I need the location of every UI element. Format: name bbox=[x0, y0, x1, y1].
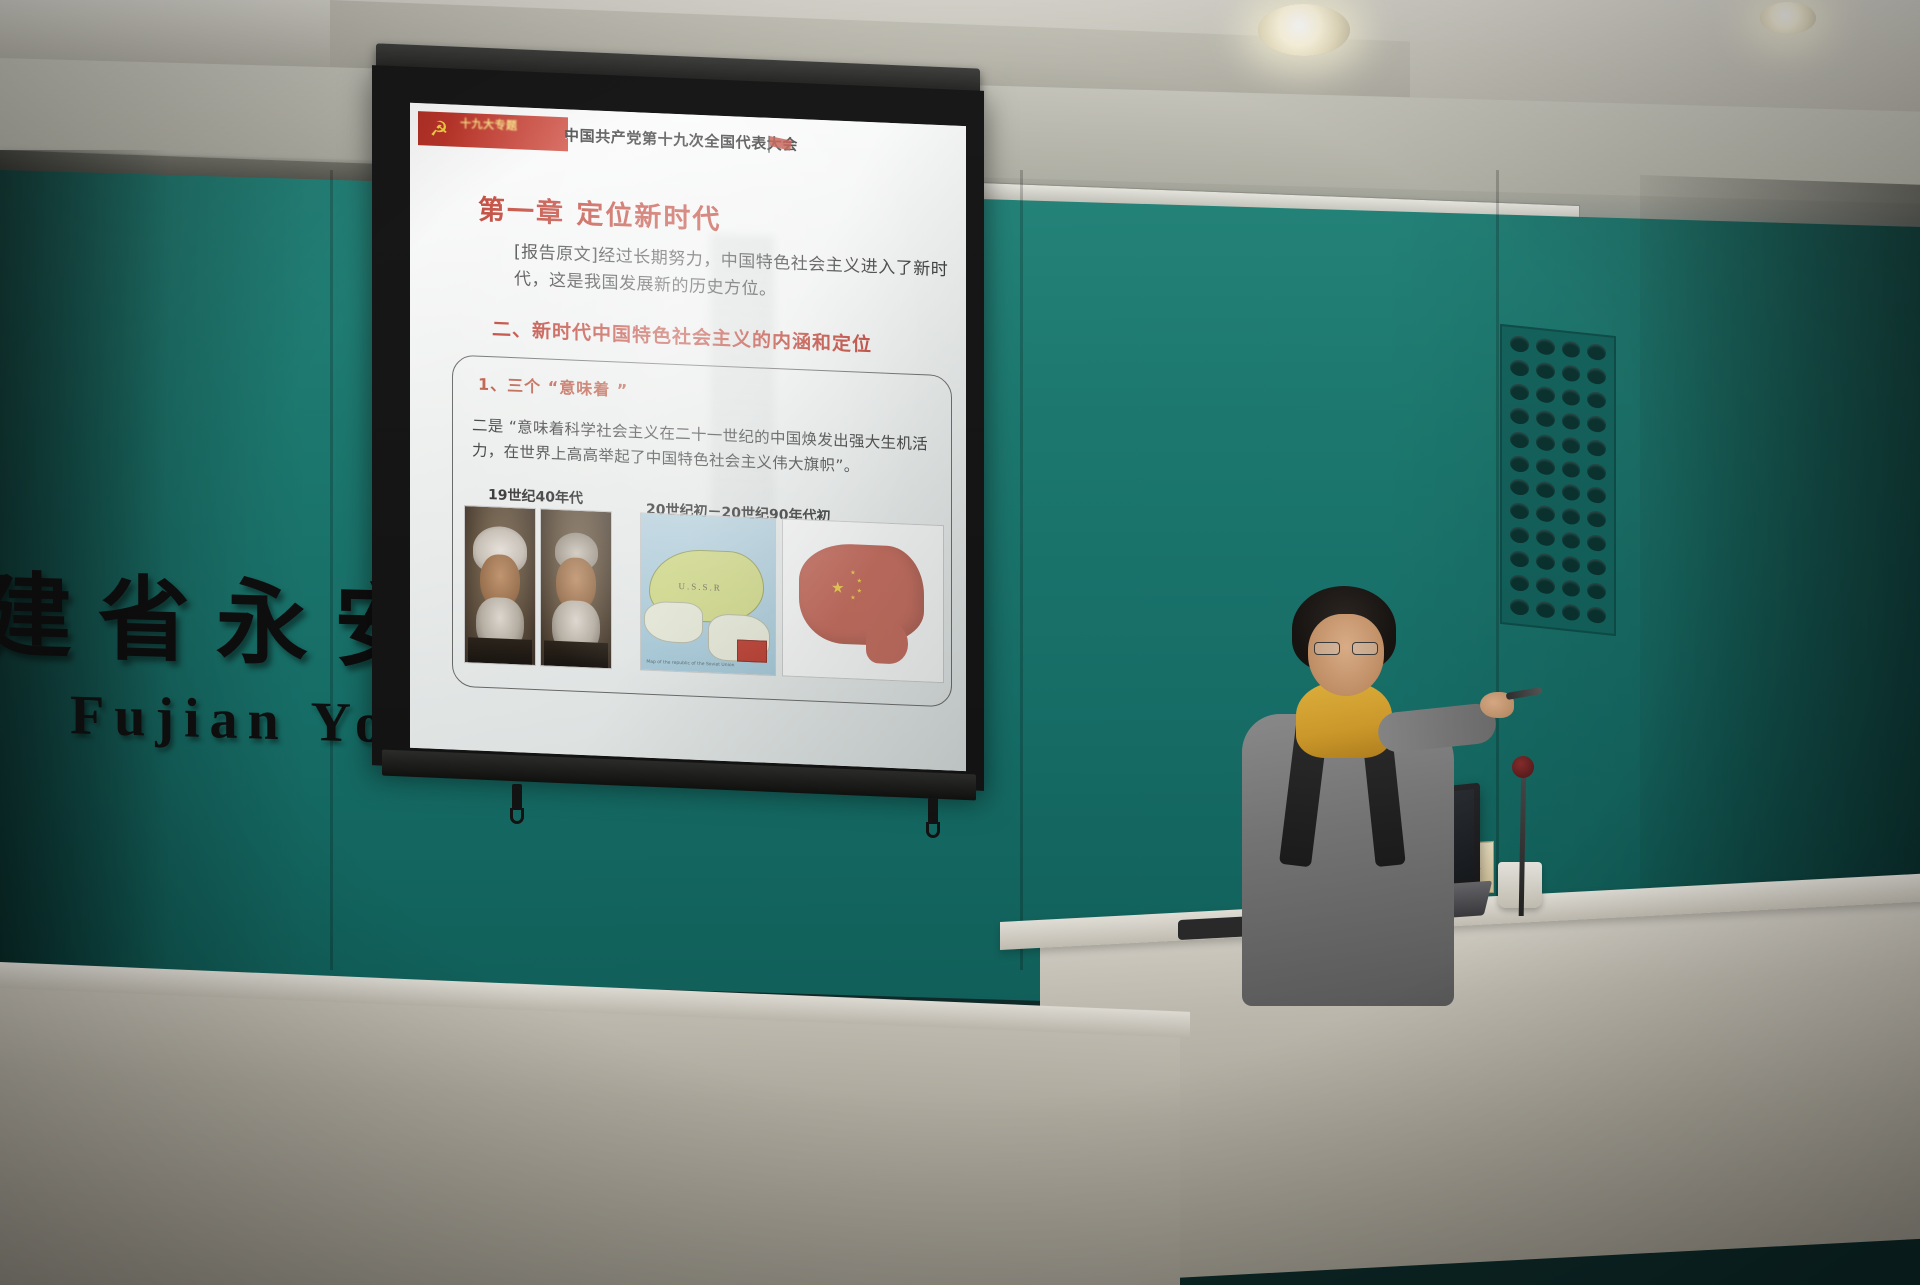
slide-image-strip: U.S.S.R Map of the republic of the Sovie… bbox=[464, 505, 944, 690]
ceiling-light-icon bbox=[1258, 4, 1350, 56]
slide-paragraph: [报告原文]经过长期努力，中国特色社会主义进入了新时代，这是我国发展新的历史方位… bbox=[514, 239, 966, 312]
microphone-icon bbox=[1512, 756, 1534, 778]
screen-frame: ☭ 十九大专题 中国共产党第十九次全国代表大会 第一章 定位新时代 [报告原文]… bbox=[372, 65, 984, 791]
star-icon: ★ bbox=[850, 571, 855, 577]
ceiling-light-icon bbox=[1760, 2, 1816, 34]
wall-seam bbox=[1496, 170, 1499, 970]
map-ussr-credit: Map of the republic of the Soviet Union bbox=[646, 660, 734, 669]
map-ussr: U.S.S.R Map of the republic of the Sovie… bbox=[640, 512, 776, 676]
slide-chapter-title: 第一章 定位新时代 bbox=[478, 188, 721, 237]
screen-surface: ☭ 十九大专题 中国共产党第十九次全国代表大会 第一章 定位新时代 [报告原文]… bbox=[410, 103, 966, 771]
portrait-engels bbox=[540, 508, 612, 669]
map-legend-swatch bbox=[737, 639, 767, 662]
map-china: ★ ★ ★ ★ ★ bbox=[782, 518, 944, 683]
presenter bbox=[1218, 586, 1478, 1006]
portrait-marx bbox=[464, 505, 536, 666]
slide-section-heading: 二、新时代中国特色社会主义的内涵和定位 bbox=[492, 314, 872, 357]
screen-pull-handle[interactable] bbox=[926, 822, 940, 838]
image-caption-1: 19世纪40年代 bbox=[488, 484, 583, 508]
screen-weight bbox=[928, 798, 938, 824]
wall-speaker-grille bbox=[1500, 324, 1616, 636]
star-icon: ★ bbox=[850, 596, 855, 602]
banner-title: 中国共产党第十九次全国代表大会 bbox=[564, 124, 798, 155]
banner-gold-overlay: 十九大专题 bbox=[460, 117, 560, 147]
map-ussr-label: U.S.S.R bbox=[679, 581, 722, 593]
projection-screen: ☭ 十九大专题 中国共产党第十九次全国代表大会 第一章 定位新时代 [报告原文]… bbox=[372, 56, 984, 786]
star-icon: ★ bbox=[831, 581, 844, 597]
screen-weight bbox=[512, 784, 522, 810]
slide-banner: ☭ 十九大专题 中国共产党第十九次全国代表大会 bbox=[418, 111, 794, 161]
glasses-icon bbox=[1314, 642, 1378, 656]
presentation-slide: ☭ 十九大专题 中国共产党第十九次全国代表大会 第一章 定位新时代 [报告原文]… bbox=[410, 103, 966, 771]
star-icon: ★ bbox=[857, 579, 862, 585]
screen-pull-handle[interactable] bbox=[510, 808, 524, 824]
flag-icon bbox=[768, 134, 794, 155]
lecture-hall-photo: 建省永安有限公司 Fujian Yon k Co.,LTD ☭ 十九大专题 bbox=[0, 0, 1920, 1285]
hammer-sickle-icon: ☭ bbox=[426, 116, 452, 141]
star-icon: ★ bbox=[857, 588, 862, 594]
